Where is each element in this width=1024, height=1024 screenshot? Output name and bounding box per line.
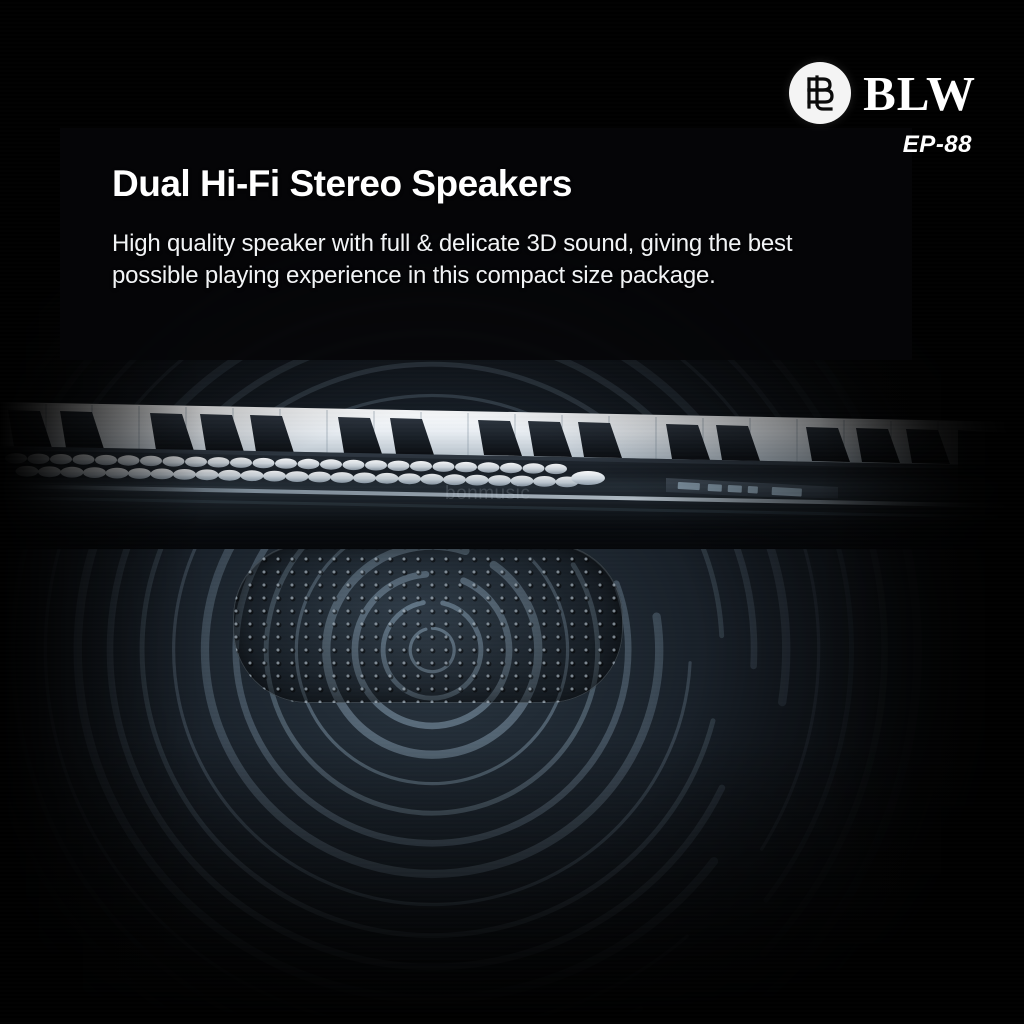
brand-wordmark: BLW bbox=[863, 69, 976, 118]
body-copy-line-2: possible playing experience in this comp… bbox=[112, 260, 942, 292]
blw-monogram-circle-icon bbox=[789, 62, 851, 124]
product-marketing-banner: bonmusic Dual Hi-Fi Stereo Speakers High… bbox=[0, 0, 1024, 1024]
headline: Dual Hi-Fi Stereo Speakers bbox=[112, 163, 572, 205]
body-copy-line-1: High quality speaker with full & delicat… bbox=[112, 228, 942, 260]
product-model: EP-88 bbox=[789, 131, 972, 159]
brand-lockup: BLW EP-88 bbox=[789, 62, 976, 159]
body-copy: High quality speaker with full & delicat… bbox=[112, 228, 942, 292]
